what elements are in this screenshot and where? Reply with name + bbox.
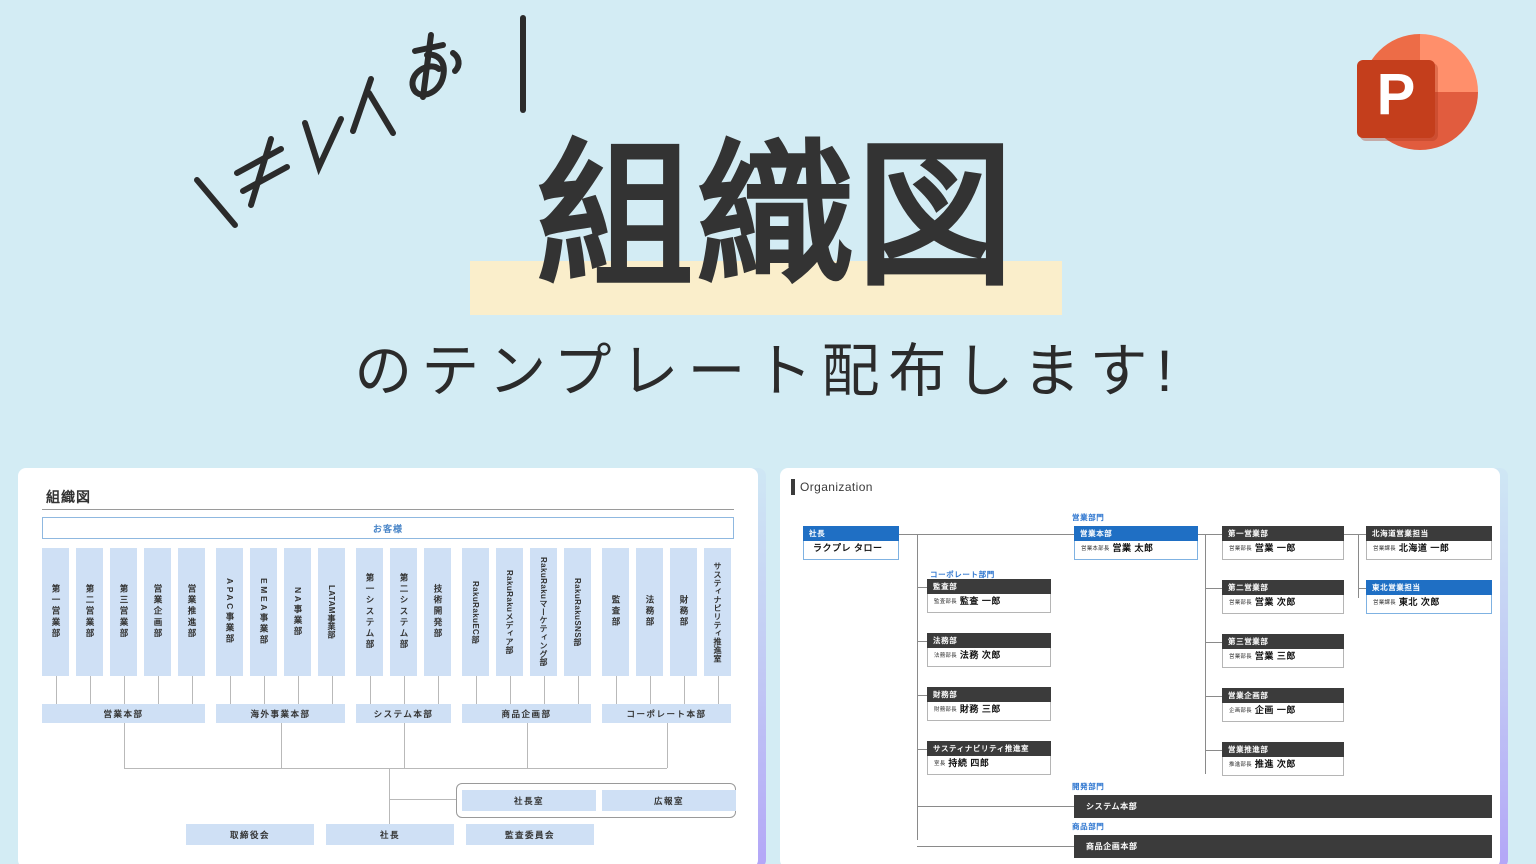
vertical-department-box[interactable]: 第一営業部 — [42, 548, 69, 676]
vertical-department-box[interactable]: RakuRakuメディア部 — [496, 548, 523, 676]
vertical-department-box[interactable]: EMEA事業部 — [250, 548, 277, 676]
org-node-header: 商品企画本部 — [1074, 835, 1492, 858]
bottom-box[interactable]: 監査委員会 — [466, 824, 594, 845]
division-bus-line — [124, 768, 667, 769]
org-node-role: 営業部長 — [1229, 544, 1252, 552]
connector-line — [124, 676, 125, 704]
org-node-header: 財務部 — [927, 687, 1051, 702]
left-chart-title: 組織図 — [46, 487, 91, 507]
connector-line — [527, 723, 528, 768]
connector-line — [476, 676, 477, 704]
org-node-role: 営業部長 — [1229, 598, 1252, 606]
main-trunk-line — [917, 534, 918, 840]
org-node-header: 第一営業部 — [1222, 526, 1344, 541]
connector-line — [667, 723, 668, 768]
org-node-header: 社長 — [803, 526, 899, 541]
connector-line — [1205, 750, 1222, 751]
connector-line — [1205, 642, 1222, 643]
vertical-department-box[interactable]: 技術開発部 — [424, 548, 451, 676]
connector-line — [917, 587, 927, 588]
hero-banner: P 組織図 のテンプレート配布します! — [0, 0, 1536, 460]
org-node-name: 営業 太郎 — [1113, 541, 1154, 554]
vertical-department-box[interactable]: 第二システム部 — [390, 548, 417, 676]
connector-line — [404, 676, 405, 704]
connector-line — [917, 846, 1074, 847]
vertical-department-box[interactable]: 第一システム部 — [356, 548, 383, 676]
connector-line — [544, 676, 545, 704]
sales-sub-trunk — [1205, 534, 1206, 774]
page-subtitle: のテンプレート配布します! — [0, 336, 1536, 408]
org-node-name: 持続 四郎 — [948, 756, 989, 769]
vertical-department-box[interactable]: NA事業部 — [284, 548, 311, 676]
bottom-box[interactable]: 社長 — [326, 824, 454, 845]
org-node-body: 室長持続 四郎 — [927, 756, 1051, 775]
connector-line — [650, 676, 651, 704]
org-node-body: 監査部長監査 一郎 — [927, 594, 1051, 613]
connector-line — [230, 676, 231, 704]
connector-line — [1358, 588, 1366, 589]
left-chart-rule — [42, 509, 734, 510]
vertical-department-box[interactable]: RakuRakuSNS部 — [564, 548, 591, 676]
vertical-department-box[interactable]: RakuRakuマーケティング部 — [530, 548, 557, 676]
org-node[interactable]: 第三営業部営業部長営業 三郎 — [1222, 634, 1344, 668]
org-node[interactable]: 北海道営業担当営業課長北海道 一郎 — [1366, 526, 1492, 560]
org-node-name: 北海道 一郎 — [1399, 541, 1450, 554]
org-node-role: 営業課長 — [1373, 544, 1396, 552]
org-node-header: システム本部 — [1074, 795, 1492, 818]
org-node-role: 財務部長 — [934, 705, 957, 713]
office-box[interactable]: 社長室 — [462, 790, 596, 811]
org-node-body: 財務部長財務 三郎 — [927, 702, 1051, 721]
connector-line — [404, 723, 405, 768]
org-node[interactable]: 第一営業部営業部長営業 一郎 — [1222, 526, 1344, 560]
right-title-accent — [791, 479, 795, 495]
org-node-name: 推進 次郎 — [1255, 757, 1296, 770]
org-node-header: 監査部 — [927, 579, 1051, 594]
org-node-name: 法務 次郎 — [960, 648, 1001, 661]
org-node[interactable]: 法務部法務部長法務 次郎 — [927, 633, 1051, 667]
connector-line — [192, 676, 193, 704]
org-node-body: 営業課長東北 次郎 — [1366, 595, 1492, 614]
org-node-body: 営業部長営業 一郎 — [1222, 541, 1344, 560]
org-node-role: 室長 — [934, 759, 945, 767]
org-node-name: 財務 三郎 — [960, 702, 1001, 715]
bottom-box[interactable]: 取締役会 — [186, 824, 314, 845]
vertical-department-box[interactable]: 第三営業部 — [110, 548, 137, 676]
org-node-body: 営業部長営業 三郎 — [1222, 649, 1344, 668]
org-node-role: 推進部長 — [1229, 760, 1252, 768]
powerpoint-icon-letter: P — [1377, 62, 1416, 127]
vertical-department-box[interactable]: サスティナビリティ推進室 — [704, 548, 731, 676]
org-node-body: 営業部長営業 次郎 — [1222, 595, 1344, 614]
connector-line — [90, 676, 91, 704]
connector-line — [332, 676, 333, 704]
org-node-header: 営業本部 — [1074, 526, 1198, 541]
org-node[interactable]: サスティナビリティ推進室室長持続 四郎 — [927, 741, 1051, 775]
org-node-role: 監査部長 — [934, 597, 957, 605]
org-node-role: 営業課長 — [1373, 598, 1396, 606]
connector-line — [510, 676, 511, 704]
org-node[interactable]: システム本部 — [1074, 795, 1492, 818]
org-node-name: 営業 三郎 — [1255, 649, 1296, 662]
connector-line — [684, 676, 685, 704]
group-label: 営業部門 — [1072, 512, 1104, 523]
org-node[interactable]: 東北営業担当営業課長東北 次郎 — [1366, 580, 1492, 614]
connector-line — [438, 676, 439, 704]
vertical-department-box[interactable]: LATAM事業部 — [318, 548, 345, 676]
org-node-name: 営業 次郎 — [1255, 595, 1296, 608]
office-branch-line — [389, 799, 456, 800]
division-box[interactable]: 商品企画部 — [462, 704, 591, 723]
org-node[interactable]: 社長ラクプレ タロー — [803, 526, 899, 560]
org-node[interactable]: 営業企画部企画部長企画 一郎 — [1222, 688, 1344, 722]
division-box[interactable]: システム本部 — [356, 704, 451, 723]
org-node-body: 営業課長北海道 一郎 — [1366, 541, 1492, 560]
vertical-department-box[interactable]: 財務部 — [670, 548, 697, 676]
right-chart-title: Organization — [800, 480, 873, 494]
org-node[interactable]: 第二営業部営業部長営業 次郎 — [1222, 580, 1344, 614]
connector-line — [1205, 534, 1222, 535]
connector-line — [124, 723, 125, 768]
connector-line — [917, 695, 927, 696]
sales-head-line — [917, 534, 1074, 535]
org-node-name: 営業 一郎 — [1255, 541, 1296, 554]
org-node-name: 東北 次郎 — [1399, 595, 1440, 608]
org-node-header: 営業企画部 — [1222, 688, 1344, 703]
org-node[interactable]: 財務部財務部長財務 三郎 — [927, 687, 1051, 721]
division-box[interactable]: 営業本部 — [42, 704, 205, 723]
connector-line — [1205, 588, 1222, 589]
connector-line — [616, 676, 617, 704]
org-node-role: 法務部長 — [934, 651, 957, 659]
powerpoint-icon: P — [1334, 22, 1494, 162]
connector-line — [1358, 534, 1366, 535]
org-node[interactable]: 営業本部営業本部長営業 太郎 — [1074, 526, 1198, 560]
connector-line — [1198, 534, 1205, 535]
vertical-department-box[interactable]: RakuRakuEC部 — [462, 548, 489, 676]
connector-line — [917, 749, 927, 750]
group-label: 開発部門 — [1072, 781, 1104, 792]
org-node-body: 営業本部長営業 太郎 — [1074, 541, 1198, 560]
division-box[interactable]: 海外事業本部 — [216, 704, 345, 723]
vertical-department-box[interactable]: 営業企画部 — [144, 548, 171, 676]
org-node-header: 営業推進部 — [1222, 742, 1344, 757]
connector-line — [917, 641, 927, 642]
connector-line — [158, 676, 159, 704]
connector-line — [917, 806, 1074, 807]
connector-line — [578, 676, 579, 704]
org-node[interactable]: 商品企画本部 — [1074, 835, 1492, 858]
connector-line — [264, 676, 265, 704]
org-node-role: 営業部長 — [1229, 652, 1252, 660]
president-trunk-line — [389, 768, 390, 824]
org-node[interactable]: 営業推進部推進部長推進 次郎 — [1222, 742, 1344, 776]
office-box[interactable]: 広報室 — [602, 790, 736, 811]
org-node-header: 第二営業部 — [1222, 580, 1344, 595]
vertical-department-box[interactable]: APAC事業部 — [216, 548, 243, 676]
vertical-department-box[interactable]: 第二営業部 — [76, 548, 103, 676]
org-node-name: 企画 一郎 — [1255, 703, 1296, 716]
connector-line — [718, 676, 719, 704]
president-out-line — [899, 534, 917, 535]
org-node-name: 監査 一郎 — [960, 594, 1001, 607]
org-node-body: 法務部長法務 次郎 — [927, 648, 1051, 667]
org-node-role: 営業本部長 — [1081, 544, 1110, 552]
org-node-header: 北海道営業担当 — [1366, 526, 1492, 541]
org-node-header: 第三営業部 — [1222, 634, 1344, 649]
org-node-header: 法務部 — [927, 633, 1051, 648]
org-node-body: ラクプレ タロー — [803, 541, 899, 560]
vertical-department-box[interactable]: 営業推進部 — [178, 548, 205, 676]
vertical-department-box[interactable]: 監査部 — [602, 548, 629, 676]
org-node-name: ラクプレ タロー — [813, 541, 883, 554]
customer-box[interactable]: お客様 — [42, 517, 734, 539]
org-node-header: サスティナビリティ推進室 — [927, 741, 1051, 756]
org-node-body: 企画部長企画 一郎 — [1222, 703, 1344, 722]
org-node[interactable]: 監査部監査部長監査 一郎 — [927, 579, 1051, 613]
connector-line — [1205, 696, 1222, 697]
org-node-header: 東北営業担当 — [1366, 580, 1492, 595]
connector-line — [1344, 534, 1358, 535]
connector-line — [56, 676, 57, 704]
division-box[interactable]: コーポレート本部 — [602, 704, 731, 723]
org-node-body: 推進部長推進 次郎 — [1222, 757, 1344, 776]
connector-line — [298, 676, 299, 704]
connector-line — [281, 723, 282, 768]
connector-line — [370, 676, 371, 704]
org-node-role: 企画部長 — [1229, 706, 1252, 714]
vertical-department-box[interactable]: 法務部 — [636, 548, 663, 676]
group-label: 商品部門 — [1072, 821, 1104, 832]
page-title: 組織図 — [466, 117, 1086, 317]
